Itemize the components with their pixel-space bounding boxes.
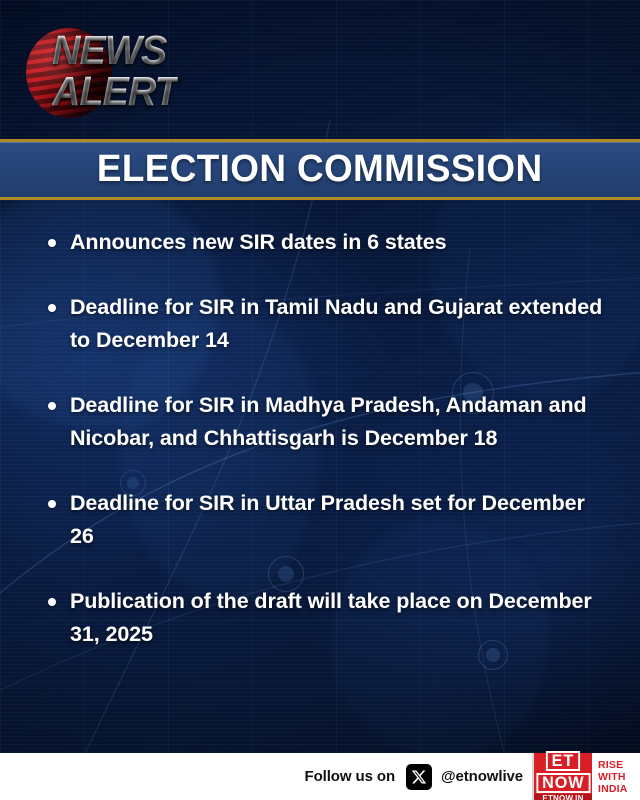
follow-us-label: Follow us on xyxy=(305,768,395,785)
etnow-mark: ET NOW ETNOW.IN xyxy=(534,753,592,800)
bullet-list: Announces new SIR dates in 6 states Dead… xyxy=(0,226,640,651)
x-twitter-icon[interactable] xyxy=(406,764,432,790)
title-band: ELECTION COMMISSION xyxy=(0,139,640,200)
bullet-dot-icon xyxy=(48,598,56,606)
news-alert-logo: NEWS ALERT xyxy=(22,16,222,128)
bullet-dot-icon xyxy=(48,304,56,312)
tagline-line-3: INDIA xyxy=(598,783,628,795)
logo-line-alert: ALERT xyxy=(52,71,178,111)
bullet-dot-icon xyxy=(48,402,56,410)
list-item: Publication of the draft will take place… xyxy=(38,585,606,651)
list-item-text: Announces new SIR dates in 6 states xyxy=(70,226,446,259)
etnow-tagline: RISE WITH INDIA xyxy=(592,753,640,800)
footer-bar: Follow us on @etnowlive ET NOW ETNOW.IN … xyxy=(0,753,640,800)
bullet-dot-icon xyxy=(48,239,56,247)
etnow-line-et: ET xyxy=(546,751,580,771)
list-item-text: Publication of the draft will take place… xyxy=(70,585,606,651)
list-item-text: Deadline for SIR in Tamil Nadu and Gujar… xyxy=(70,291,606,357)
social-handle[interactable]: @etnowlive xyxy=(441,768,523,785)
etnow-url: ETNOW.IN xyxy=(534,794,592,800)
bullet-dot-icon xyxy=(48,500,56,508)
etnow-logo: ET NOW ETNOW.IN RISE WITH INDIA xyxy=(532,753,640,800)
logo-line-news: NEWS xyxy=(52,30,178,70)
list-item: Deadline for SIR in Tamil Nadu and Gujar… xyxy=(38,291,606,357)
list-item: Announces new SIR dates in 6 states xyxy=(38,226,606,259)
page-title: ELECTION COMMISSION xyxy=(97,148,543,191)
list-item-text: Deadline for SIR in Uttar Pradesh set fo… xyxy=(70,487,606,553)
tagline-line-2: WITH xyxy=(598,771,626,783)
etnow-line-now: NOW xyxy=(536,773,590,793)
news-alert-wordmark: NEWS ALERT xyxy=(52,30,183,111)
list-item-text: Deadline for SIR in Madhya Pradesh, Anda… xyxy=(70,389,606,455)
tagline-line-1: RISE xyxy=(598,759,623,771)
news-alert-card: NEWS ALERT ELECTION COMMISSION Announces… xyxy=(0,0,640,800)
list-item: Deadline for SIR in Uttar Pradesh set fo… xyxy=(38,487,606,553)
list-item: Deadline for SIR in Madhya Pradesh, Anda… xyxy=(38,389,606,455)
